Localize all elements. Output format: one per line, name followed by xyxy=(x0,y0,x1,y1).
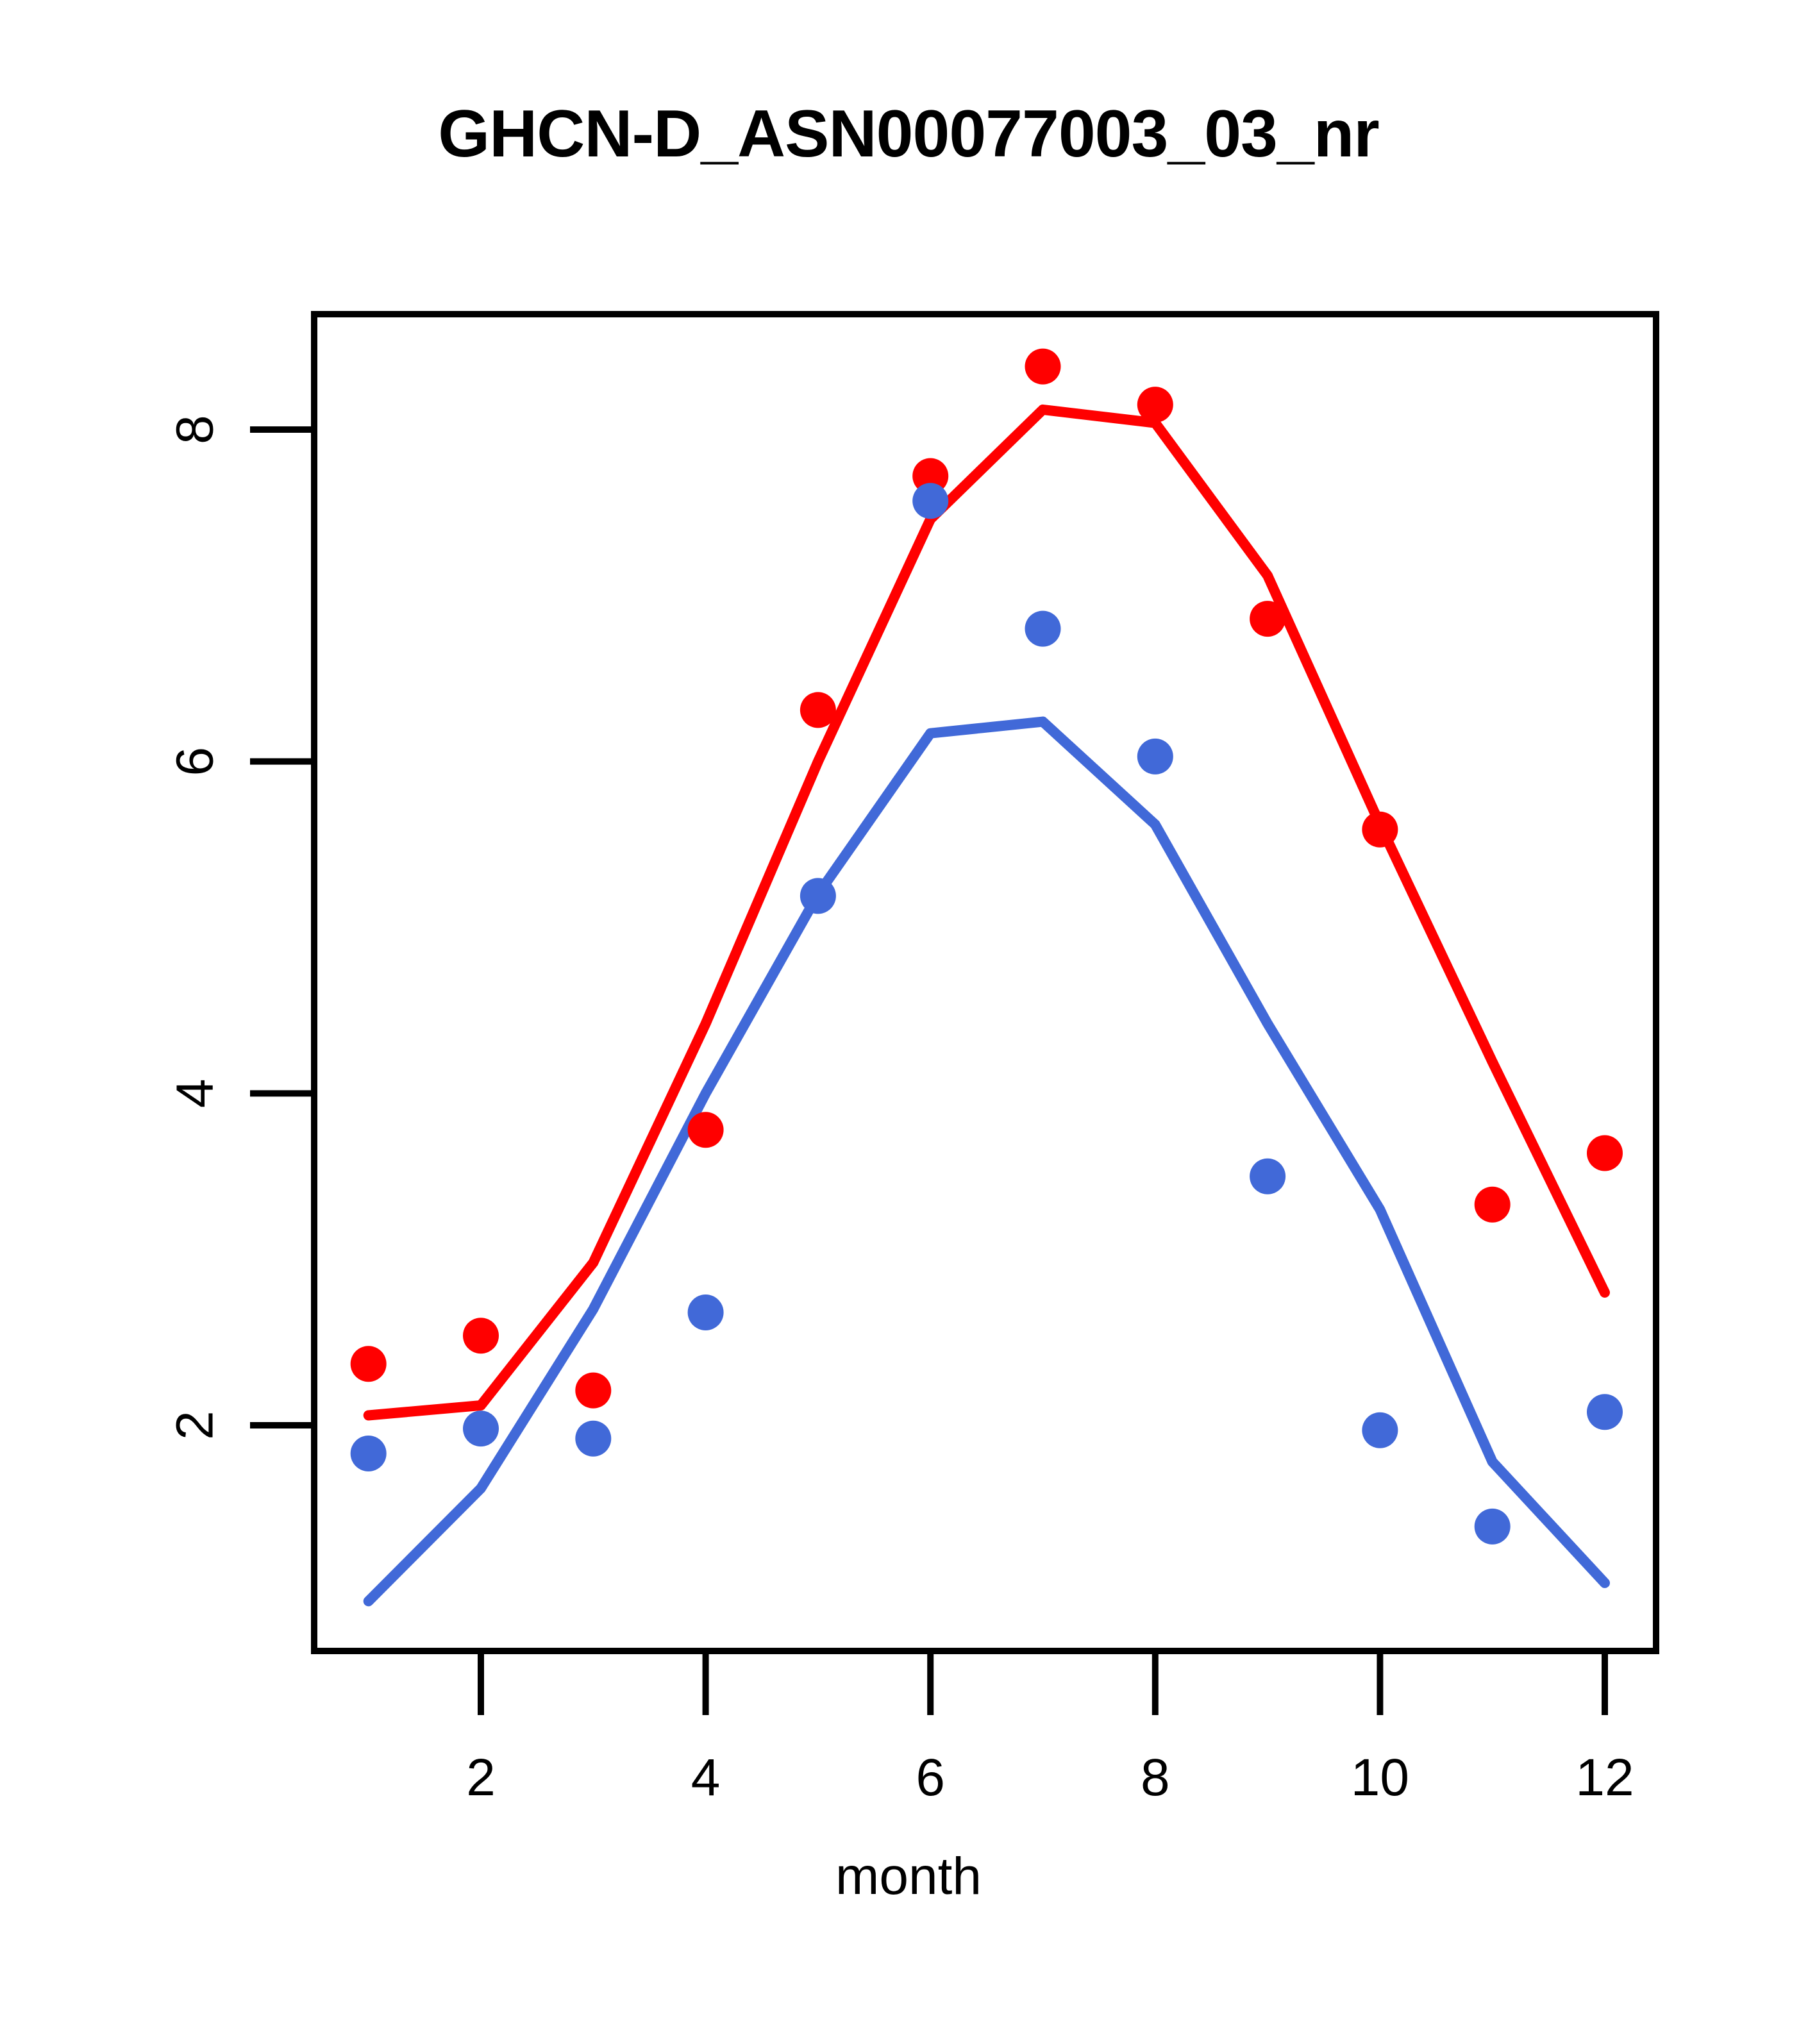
data-point xyxy=(1475,1187,1511,1223)
data-point xyxy=(351,1346,387,1382)
x-tick-label: 8 xyxy=(1141,1748,1170,1807)
x-axis-label: month xyxy=(0,1847,1817,1907)
trend-lines xyxy=(369,410,1605,1601)
plot-canvas: 24681012 2468 xyxy=(0,0,1817,2044)
data-point xyxy=(1250,601,1285,637)
data-point xyxy=(1025,349,1061,385)
x-axis-tick-labels: 24681012 xyxy=(466,1748,1634,1807)
series-line-blue-line xyxy=(369,722,1605,1602)
series-line-red-line xyxy=(369,410,1605,1416)
x-axis-ticks xyxy=(481,1651,1605,1715)
data-point xyxy=(1250,1159,1285,1194)
data-point xyxy=(1025,611,1061,647)
y-tick-label: 4 xyxy=(166,1079,224,1109)
y-tick-label: 2 xyxy=(166,1411,224,1440)
x-tick-label: 6 xyxy=(916,1748,945,1807)
data-point xyxy=(688,1112,724,1148)
y-axis-tick-labels: 2468 xyxy=(166,415,224,1440)
data-point xyxy=(575,1421,611,1457)
data-point xyxy=(1587,1394,1623,1430)
x-tick-label: 12 xyxy=(1575,1748,1634,1807)
data-point xyxy=(800,878,836,914)
data-point xyxy=(1475,1509,1511,1545)
data-point xyxy=(1137,739,1173,775)
data-point xyxy=(912,483,948,519)
chart-container: GHCN-D_ASN00077003_03_nr 24681012 2468 m… xyxy=(0,0,1817,2044)
x-tick-label: 10 xyxy=(1351,1748,1409,1807)
x-tick-label: 4 xyxy=(691,1748,721,1807)
y-axis-ticks xyxy=(250,430,314,1425)
data-point xyxy=(1362,812,1398,848)
data-point xyxy=(575,1373,611,1409)
data-point xyxy=(1362,1412,1398,1448)
data-point xyxy=(463,1411,499,1446)
data-point xyxy=(688,1294,724,1330)
data-point xyxy=(800,692,836,728)
data-point xyxy=(1587,1135,1623,1171)
data-point xyxy=(1137,387,1173,423)
y-tick-label: 8 xyxy=(166,415,224,444)
data-point xyxy=(463,1318,499,1353)
data-points xyxy=(351,349,1623,1545)
x-tick-label: 2 xyxy=(466,1748,496,1807)
data-point xyxy=(351,1436,387,1471)
y-tick-label: 6 xyxy=(166,747,224,776)
